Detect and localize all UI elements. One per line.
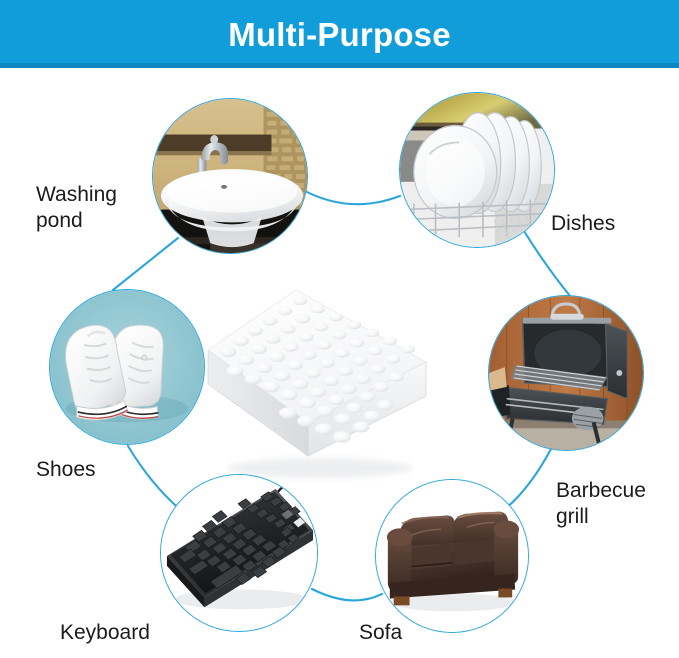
label-keyboard: Keyboard	[60, 620, 220, 646]
photo-sneakers	[50, 290, 204, 444]
center-product-bumper-sheet	[200, 272, 435, 482]
label-washing-pond: Washing pond	[36, 182, 161, 234]
photo-keyboard	[161, 475, 317, 631]
node-sofa[interactable]	[375, 479, 529, 633]
connector-keyboard-sofa	[312, 589, 382, 600]
node-dishes[interactable]	[399, 92, 555, 248]
label-dishes: Dishes	[551, 211, 671, 237]
label-sofa: Sofa	[359, 620, 469, 646]
photo-barbecue-grill	[489, 296, 643, 450]
infographic-root: Multi-Purpose	[0, 0, 679, 658]
node-washing-pond[interactable]	[152, 98, 308, 254]
photo-bathroom-sink	[153, 99, 307, 253]
node-barbecue-grill[interactable]	[488, 295, 644, 451]
label-shoes: Shoes	[36, 457, 156, 483]
page-title: Multi-Purpose	[228, 18, 451, 51]
label-barbecue-grill: Barbecue grill	[556, 478, 676, 530]
node-shoes[interactable]	[49, 289, 205, 445]
connector-washingpond-dishes	[303, 190, 400, 204]
node-keyboard[interactable]	[160, 474, 318, 632]
photo-dish-rack	[400, 93, 554, 247]
photo-leather-sofa	[376, 480, 528, 632]
page-header: Multi-Purpose	[0, 0, 679, 68]
